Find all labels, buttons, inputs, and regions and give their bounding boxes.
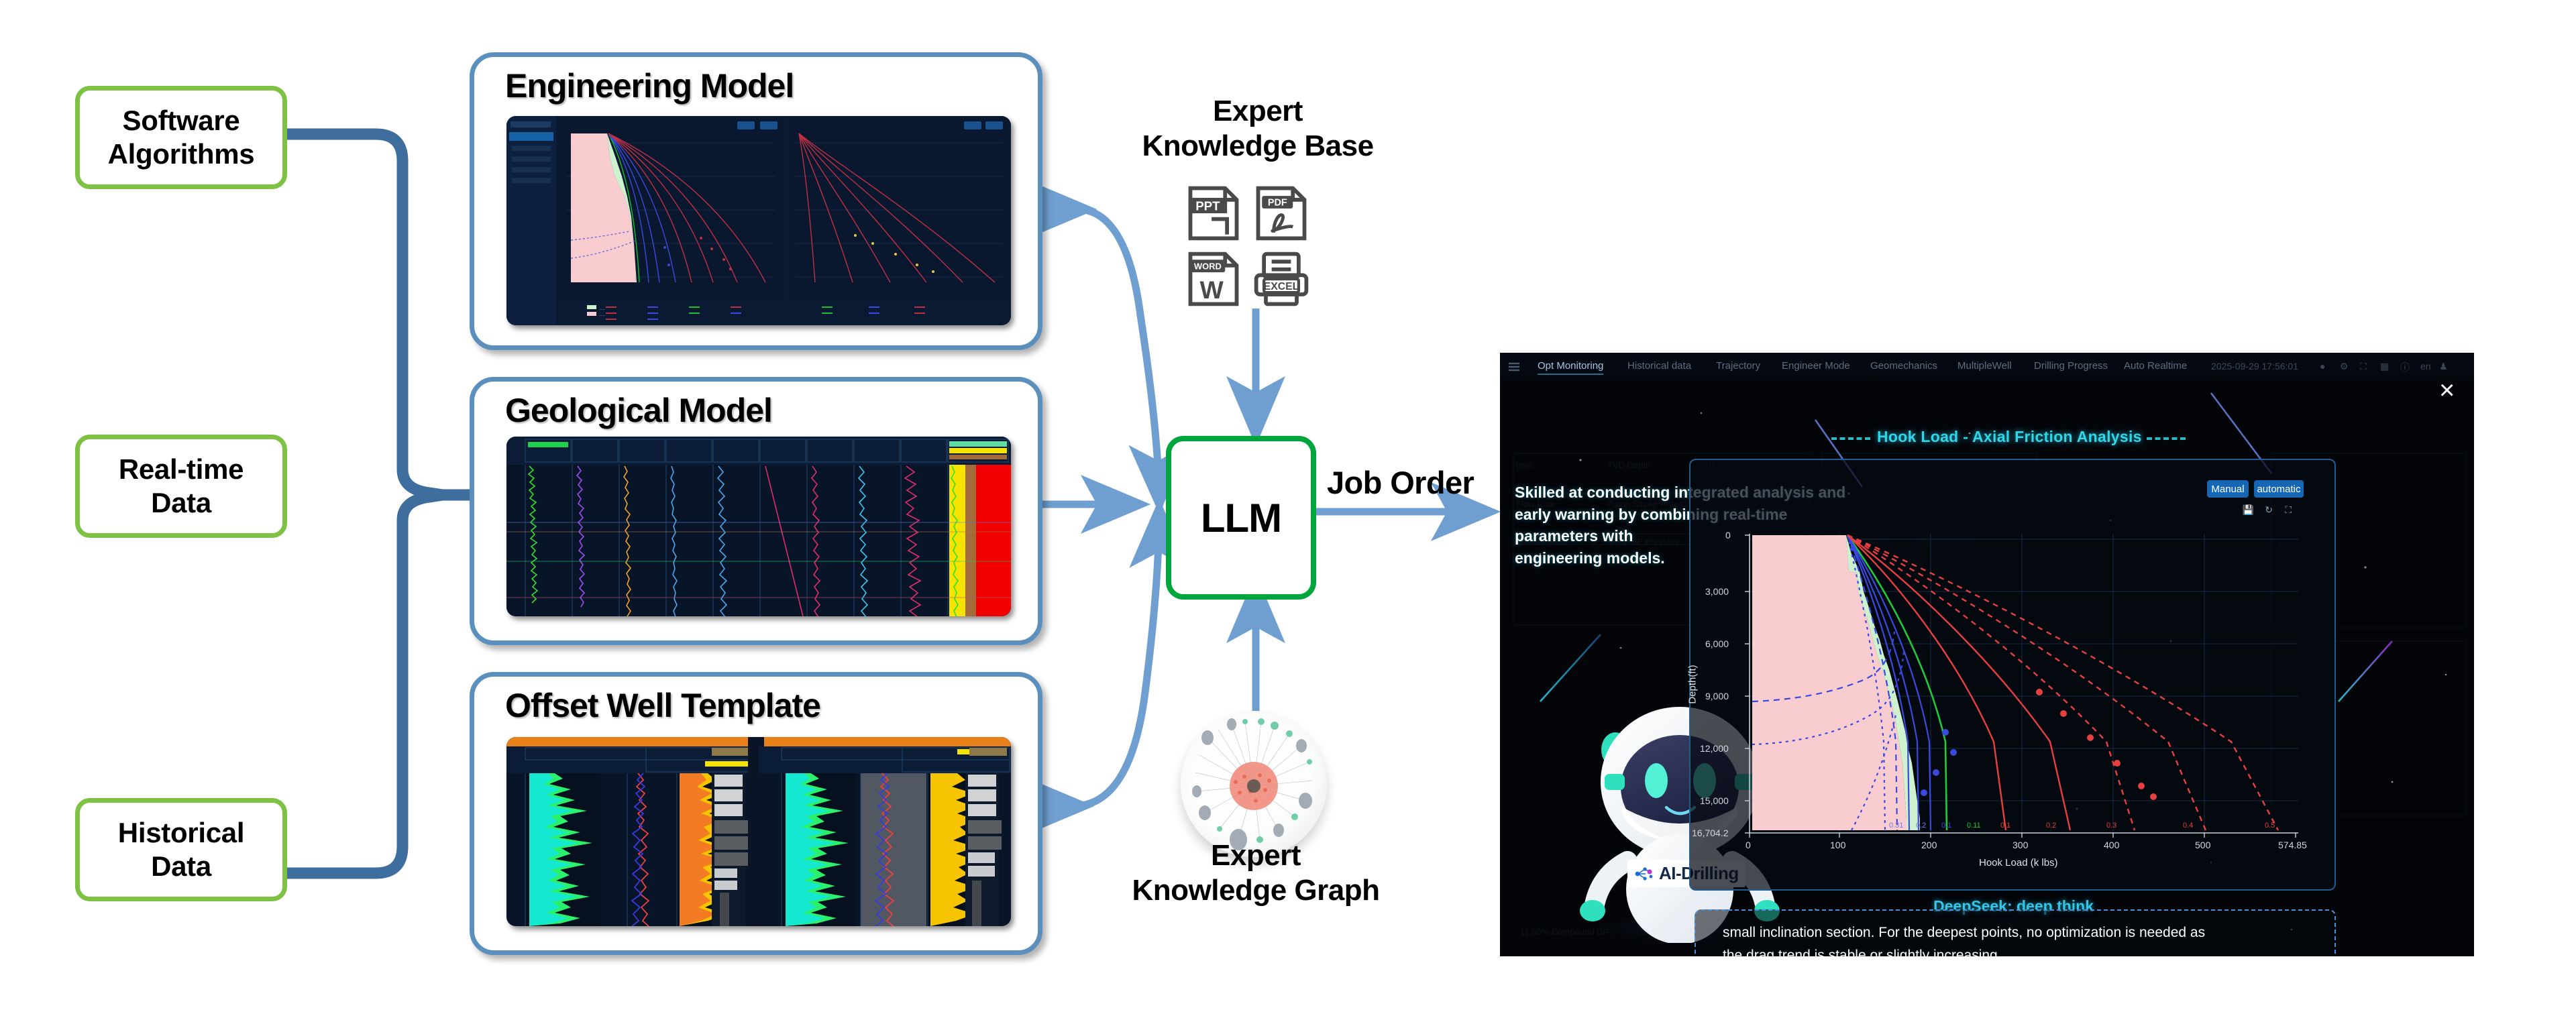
x-tick-300: 300 <box>2012 840 2028 850</box>
y-axis-title: Depth(ft) <box>1687 665 1699 703</box>
excel-file-icon[interactable]: EXCEL <box>1250 248 1312 310</box>
svg-text:EXCEL: EXCEL <box>1264 281 1299 292</box>
panel-engineering-model[interactable]: Engineering Model <box>470 52 1042 350</box>
job-order-label: Job Order <box>1327 464 1474 501</box>
offset-well-template-screenshot <box>506 737 1011 926</box>
x-tick-400: 400 <box>2104 840 2119 850</box>
svg-text:0.1: 0.1 <box>1941 822 1951 830</box>
svg-text:PDF: PDF <box>1268 198 1287 209</box>
svg-text:time: time <box>1516 460 1533 470</box>
engineering-model-screenshot: ________ <box>506 116 1011 325</box>
input-label: Real-timeData <box>119 453 244 519</box>
svg-text:WORD: WORD <box>1194 262 1222 272</box>
y-tick-3000: 3,000 <box>1705 586 1729 597</box>
title-dash-left <box>1831 437 1870 440</box>
pdf-file-icon[interactable]: PDF <box>1250 182 1312 244</box>
word-file-icon[interactable]: WORD W <box>1183 248 1244 310</box>
hook-load-plot: 0.31 0.2 0.1 0.11 0.1 0.2 0.3 0.4 0.5 <box>1690 460 2334 889</box>
svg-text:W: W <box>1199 276 1224 304</box>
panel-title-offset-well-template: Offset Well Template <box>505 686 820 725</box>
settings-icon[interactable]: ⚙ <box>2340 361 2349 372</box>
y-tick-max: 16,704.2 <box>1692 828 1729 838</box>
nav-item-geomechanics[interactable]: Geomechanics <box>1870 360 1937 372</box>
expert-knowledge-base-icons: PPT PDF WORD W <box>1183 182 1314 310</box>
ai-drilling-mark <box>1634 865 1654 883</box>
svg-text:0.3: 0.3 <box>2106 822 2116 830</box>
notification-icon[interactable]: ● <box>2320 361 2325 372</box>
svg-text:0.4: 0.4 <box>2183 822 2193 830</box>
fullscreen-icon[interactable]: ⛶ <box>2360 361 2367 372</box>
nav-item-drilling-progress[interactable]: Drilling Progress <box>2034 360 2108 372</box>
grid-icon[interactable]: ▦ <box>2380 361 2389 372</box>
input-box-historical-data[interactable]: HistoricalData <box>75 798 287 901</box>
expert-knowledge-graph-label: ExpertKnowledge Graph <box>1102 838 1410 908</box>
user-icon[interactable]: ♟ <box>2439 361 2448 372</box>
hook-load-chart-card[interactable]: Manual automatic 💾 ↻ ⛶ <box>1689 459 2336 891</box>
svg-text:PPT: PPT <box>1195 199 1220 213</box>
close-icon[interactable]: × <box>2439 377 2455 404</box>
panel-offset-well-template[interactable]: Offset Well Template <box>470 672 1042 955</box>
x-axis-title: Hook Load (k lbs) <box>1979 857 2058 868</box>
nav-item-engineer-mode[interactable]: Engineer Mode <box>1782 360 1850 372</box>
y-tick-0: 0 <box>1725 530 1731 541</box>
x-tick-500: 500 <box>2195 840 2210 850</box>
x-tick-max: 574.85 <box>2278 840 2307 850</box>
title-dash-right <box>2147 437 2186 440</box>
input-label: SoftwareAlgorithms <box>108 104 255 170</box>
chart-title: Hook Load - Axial Friction Analysis <box>1877 428 2142 446</box>
svg-text:0.2: 0.2 <box>1916 822 1926 830</box>
nav-item-trajectory[interactable]: Trajectory <box>1716 360 1760 372</box>
input-label: HistoricalData <box>118 816 244 883</box>
help-icon[interactable]: ⓘ <box>2400 361 2410 374</box>
svg-text:TVD Depth: TVD Depth <box>1607 460 1650 470</box>
y-tick-6000: 6,000 <box>1705 638 1729 649</box>
nav-item-opt-monitoring[interactable]: Opt Monitoring <box>1538 360 1603 375</box>
deepseek-line-1: small inclination section. For the deepe… <box>1723 921 2205 944</box>
nav-item-historical-data[interactable]: Historical data <box>1627 360 1691 372</box>
svg-text:____: ____ <box>598 306 606 310</box>
y-tick-15000: 15,000 <box>1700 795 1729 806</box>
y-tick-9000: 9,000 <box>1705 691 1729 701</box>
geological-model-screenshot <box>506 437 1011 616</box>
expert-knowledge-base-label: ExpertKnowledge Base <box>1100 94 1415 164</box>
svg-text:0.5: 0.5 <box>2265 822 2275 830</box>
x-tick-200: 200 <box>1921 840 1937 850</box>
app-datetime: 2025-09-29 17:56:01 <box>2211 361 2298 372</box>
llm-box[interactable]: LLM <box>1166 436 1316 600</box>
svg-text:____: ____ <box>598 313 606 316</box>
hamburger-menu-icon[interactable] <box>1507 359 1521 374</box>
input-box-real-time-data[interactable]: Real-timeData <box>75 435 287 538</box>
y-tick-12000: 12,000 <box>1700 743 1729 754</box>
expert-knowledge-graph-visual <box>1181 711 1327 857</box>
deepseek-line-2: the drag trend is stable or slightly inc… <box>1723 944 2002 956</box>
input-box-software-algorithms[interactable]: SoftwareAlgorithms <box>75 86 287 189</box>
panel-title-geological-model: Geological Model <box>505 391 772 430</box>
panel-title-engineering-model: Engineering Model <box>505 66 794 105</box>
llm-label: LLM <box>1201 495 1281 541</box>
x-tick-0: 0 <box>1746 840 1751 850</box>
svg-text:0.31: 0.31 <box>1889 822 1903 830</box>
ai-drilling-app-window[interactable]: timeTVD Depth MDLow Depth Hook position … <box>1500 353 2474 956</box>
svg-text:0.1: 0.1 <box>2000 822 2010 830</box>
language-icon[interactable]: en <box>2420 361 2431 372</box>
svg-text:0.2: 0.2 <box>2046 822 2056 830</box>
nav-item-auto-realtime[interactable]: Auto Realtime <box>2124 360 2187 372</box>
x-tick-100: 100 <box>1830 840 1845 850</box>
nav-item-multiplewell[interactable]: MultipleWell <box>1957 360 2012 372</box>
svg-text:0.11: 0.11 <box>1967 822 1981 830</box>
ppt-file-icon[interactable]: PPT <box>1183 182 1244 244</box>
panel-geological-model[interactable]: Geological Model <box>470 377 1042 645</box>
